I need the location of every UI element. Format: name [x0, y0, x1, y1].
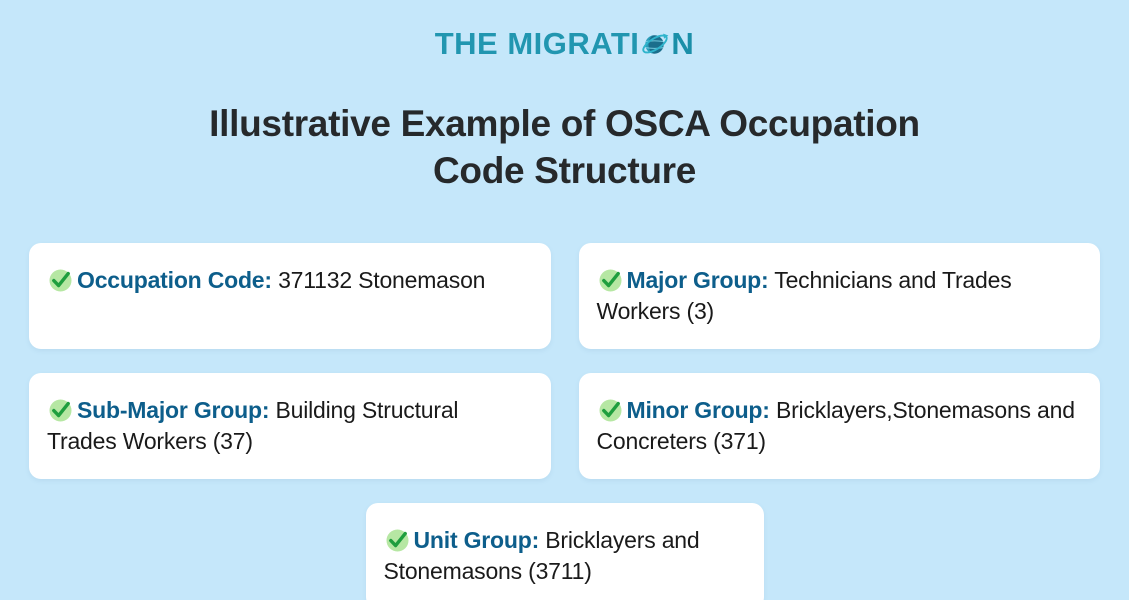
code-structure-card-grid: Occupation Code: 371132 Stonemason Major…	[29, 243, 1100, 600]
card-occupation-code: Occupation Code: 371132 Stonemason	[29, 243, 551, 349]
page-title-line-2: Code Structure	[433, 150, 696, 191]
card-text: Minor Group: Bricklayers,Stonemasons and…	[597, 395, 1081, 457]
card-major-group: Major Group: Technicians and Trades Work…	[579, 243, 1101, 349]
card-label: Sub-Major Group:	[77, 397, 269, 423]
card-sub-major-group: Sub-Major Group: Building Structural Tra…	[29, 373, 551, 479]
card-text: Unit Group: Bricklayers and Stonemasons …	[384, 525, 744, 587]
card-label: Unit Group:	[414, 527, 540, 553]
brand-name-prefix: THE MIGRATI	[435, 28, 640, 59]
card-label: Occupation Code:	[77, 267, 272, 293]
card-value: 371132 Stonemason	[278, 267, 485, 293]
page-title-line-1: Illustrative Example of OSCA Occupation	[209, 103, 920, 144]
card-label: Major Group:	[627, 267, 769, 293]
brand-name-suffix: N	[671, 28, 694, 59]
card-label: Minor Group:	[627, 397, 770, 423]
page-title: Illustrative Example of OSCA Occupation …	[0, 100, 1129, 195]
brand-logo: THE MIGRATI N	[0, 28, 1129, 59]
globe-orbit-icon	[640, 29, 670, 59]
check-circle-icon	[47, 397, 74, 424]
card-row-3: Unit Group: Bricklayers and Stonemasons …	[29, 503, 1100, 600]
check-circle-icon	[384, 527, 411, 554]
card-minor-group: Minor Group: Bricklayers,Stonemasons and…	[579, 373, 1101, 479]
card-text: Occupation Code: 371132 Stonemason	[47, 265, 485, 296]
card-row-2: Sub-Major Group: Building Structural Tra…	[29, 373, 1100, 479]
check-circle-icon	[597, 267, 624, 294]
card-text: Sub-Major Group: Building Structural Tra…	[47, 395, 531, 457]
card-text: Major Group: Technicians and Trades Work…	[597, 265, 1081, 327]
check-circle-icon	[47, 267, 74, 294]
card-unit-group: Unit Group: Bricklayers and Stonemasons …	[366, 503, 764, 600]
infographic-page: THE MIGRATI N Illustrative Example of OS…	[0, 0, 1129, 600]
check-circle-icon	[597, 397, 624, 424]
card-row-1: Occupation Code: 371132 Stonemason Major…	[29, 243, 1100, 349]
